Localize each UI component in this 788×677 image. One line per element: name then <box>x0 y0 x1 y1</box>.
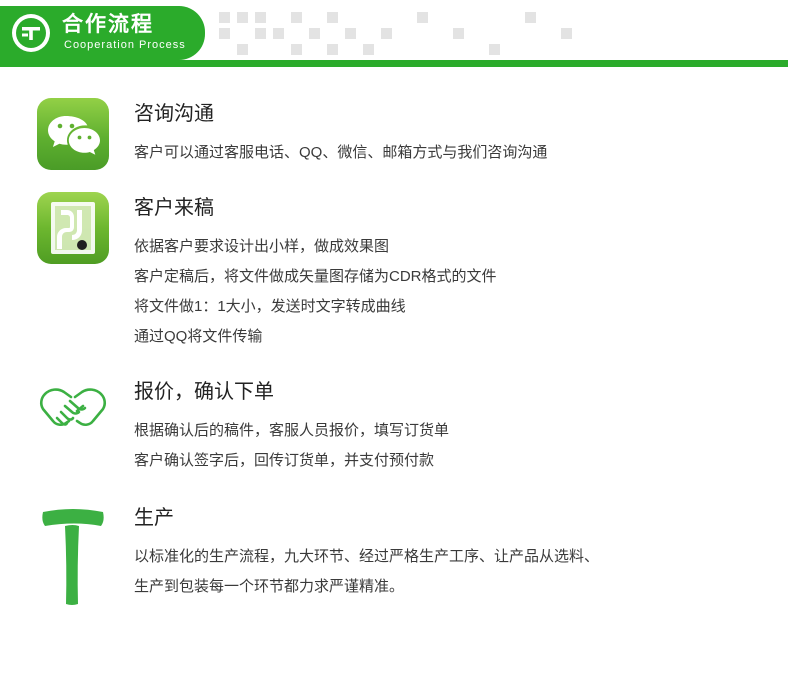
step-icon-container <box>36 98 110 170</box>
step-line: 客户定稿后，将文件做成矢量图存储为CDR格式的文件 <box>134 262 788 292</box>
step-title: 客户来稿 <box>134 194 788 222</box>
header-dot-pattern <box>205 6 788 60</box>
step-text: 咨询沟通 客户可以通过客服电话、QQ、微信、邮箱方式与我们咨询沟通 <box>134 98 788 168</box>
page-title-en: Cooperation Process <box>64 38 186 52</box>
wechat-icon <box>37 98 109 170</box>
step-line: 生产到包装每一个环节都力求严谨精准。 <box>134 572 788 602</box>
step-line: 依据客户要求设计出小样，做成效果图 <box>134 232 788 262</box>
step-line: 将文件做1：1大小，发送时文字转成曲线 <box>134 292 788 322</box>
process-step: 客户来稿 依据客户要求设计出小样，做成效果图 客户定稿后，将文件做成矢量图存储为… <box>0 192 788 352</box>
page-header: 合作流程 Cooperation Process <box>0 0 788 72</box>
step-title: 生产 <box>134 504 788 532</box>
step-line: 客户可以通过客服电话、QQ、微信、邮箱方式与我们咨询沟通 <box>134 138 788 168</box>
step-text: 报价，确认下单 根据确认后的稿件，客服人员报价，填写订货单 客户确认签字后，回传… <box>134 376 788 476</box>
step-line: 通过QQ将文件传输 <box>134 322 788 352</box>
step-line: 客户确认签字后，回传订货单，并支付预付款 <box>134 446 788 476</box>
step-icon-container <box>36 192 110 264</box>
step-icon-container <box>36 502 110 580</box>
handshake-icon <box>37 376 109 454</box>
process-steps-list: 咨询沟通 客户可以通过客服电话、QQ、微信、邮箱方式与我们咨询沟通 客户来稿 依… <box>0 72 788 602</box>
process-step: 报价，确认下单 根据确认后的稿件，客服人员报价，填写订货单 客户确认签字后，回传… <box>0 376 788 476</box>
step-line: 根据确认后的稿件，客服人员报价，填写订货单 <box>134 416 788 446</box>
process-step: 生产 以标准化的生产流程，九大环节、经过严格生产工序、让产品从选料、 生产到包装… <box>0 502 788 602</box>
design-draft-icon <box>37 192 109 264</box>
step-text: 生产 以标准化的生产流程，九大环节、经过严格生产工序、让产品从选料、 生产到包装… <box>134 502 788 602</box>
step-text: 客户来稿 依据客户要求设计出小样，做成效果图 客户定稿后，将文件做成矢量图存储为… <box>134 192 788 352</box>
page-title: 合作流程 <box>62 12 154 38</box>
hammer-icon <box>37 502 109 580</box>
step-title: 咨询沟通 <box>134 100 788 128</box>
step-icon-container <box>36 376 110 454</box>
header-underline <box>0 60 788 67</box>
step-line: 以标准化的生产流程，九大环节、经过严格生产工序、让产品从选料、 <box>134 542 788 572</box>
process-step: 咨询沟通 客户可以通过客服电话、QQ、微信、邮箱方式与我们咨询沟通 <box>0 98 788 170</box>
step-title: 报价，确认下单 <box>134 378 788 406</box>
company-logo-icon <box>12 14 50 52</box>
